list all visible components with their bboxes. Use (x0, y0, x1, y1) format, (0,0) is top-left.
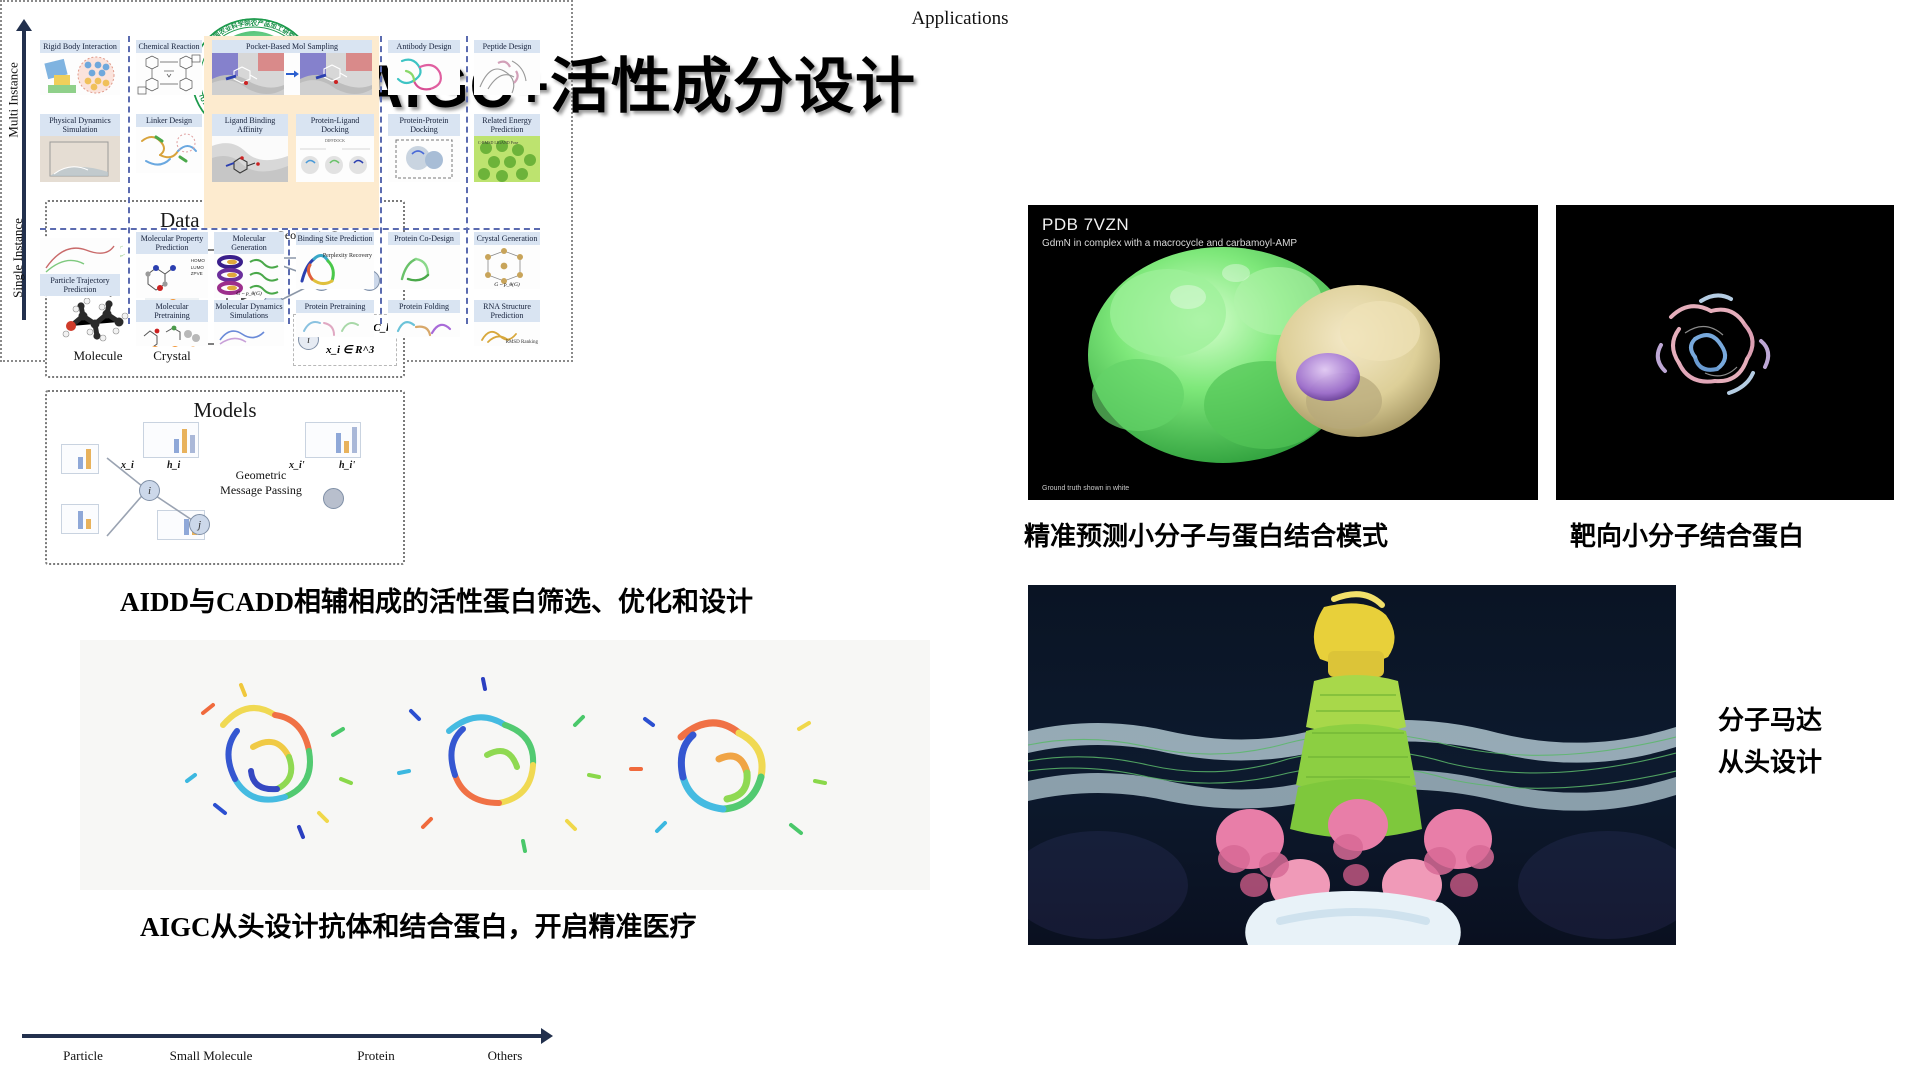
cell-art-binding-site: Perplexity Recovery (296, 245, 374, 289)
cell-label: Molecular Generation (214, 232, 284, 254)
cell-particle-trajectory-prediction: Particle Trajectory Prediction (40, 238, 120, 302)
divider-others (466, 36, 468, 324)
arrow-right-icon (284, 53, 300, 95)
cell-protein-co-design: Protein Co-Design (388, 232, 460, 296)
cell-label: Crystal Generation (474, 232, 540, 245)
mp-node-output (323, 488, 344, 509)
cell-art-protein-co-design (388, 245, 460, 289)
cell-protein-protein-docking: Protein-Protein Docking (388, 114, 460, 180)
cell-art-protein-pretraining (296, 313, 374, 337)
x-axis-label-particle: Particle (40, 1048, 126, 1064)
cell-label: Pocket-Based Mol Sampling (212, 40, 372, 53)
cell-art-crystal-generation: G ~ p_θ(G) (474, 245, 540, 289)
rmsd-ranking-annotation: RMSD Ranking (506, 340, 538, 345)
mp-var-h-prime: h_i' (339, 460, 355, 471)
annotation-lumo: LUMO (191, 265, 205, 271)
cell-label: Protein Pretraining (296, 300, 374, 313)
cell-label: Molecular Pretraining (136, 300, 208, 322)
model-input-chart-1 (61, 444, 99, 474)
cell-pocket-based-mol-sampling: Pocket-Based Mol Sampling (212, 40, 372, 102)
cell-protein-pretraining: Protein Pretraining (296, 300, 374, 344)
cell-art-rna-structure: RMSD Ranking (474, 322, 540, 346)
cell-art-physical-dynamics (40, 136, 120, 182)
cell-art-molecular-pretraining (136, 322, 208, 346)
cell-physical-dynamics-simulation: Physical Dynamics Simulation (40, 114, 120, 180)
divider-multi-single (40, 228, 540, 230)
perplexity-recovery-annotation: Perplexity Recovery (323, 253, 372, 260)
models-box: Models (45, 390, 405, 565)
cell-antibody-design: Antibody Design (388, 40, 460, 102)
cell-art-pocket-sampling (212, 53, 372, 95)
cell-ligand-binding-affinity: Ligand Binding Affinity (212, 114, 288, 180)
cell-rna-structure-prediction: RNA Structure Prediction RMSD Ranking (474, 300, 540, 344)
slide-root: IFST 中国农业科学院农产品加工研究所 INSTITUTE OF FOOD S… (0, 0, 1920, 1080)
cell-label: Protein Co-Design (388, 232, 460, 245)
cell-art-rigid-body (40, 53, 120, 95)
figure-molecular-motor (1028, 585, 1676, 945)
annotation-homo: HOMO (191, 258, 205, 264)
cell-label: Binding Site Prediction (296, 232, 374, 245)
cell-art-molecular-generation: G ~ p_θ(G) (214, 254, 284, 298)
pdb-structure-render: PDB 7VZN GdmN in complex with a macrocyc… (1028, 205, 1538, 500)
cell-art-molecular-dynamics (214, 322, 284, 346)
molecule-thumbnail (59, 298, 135, 348)
cell-rigid-body-interaction: Rigid Body Interaction (40, 40, 120, 102)
caption-aidd-cadd: AIDD与CADD相辅相成的活性蛋白筛选、优化和设计 (120, 580, 753, 619)
cell-art-antibody (388, 53, 460, 95)
cell-art-related-energy: C-RMSD LIGAND Pose (474, 136, 540, 182)
cell-label: Ligand Binding Affinity (212, 114, 288, 136)
caption-target-binding: 靶向小分子结合蛋白 (1570, 516, 1804, 553)
cell-art-peptide (474, 53, 540, 95)
pdb-footnote: Ground truth shown in white (1042, 485, 1129, 492)
cell-chemical-reaction: Chemical Reaction (136, 40, 202, 102)
cell-label: Particle Trajectory Prediction (40, 274, 120, 296)
cell-label: Protein-Protein Docking (388, 114, 460, 136)
cell-label: Linker Design (136, 114, 202, 127)
cell-art-linker-design (136, 127, 202, 173)
mp-var-x: x_i (121, 460, 134, 471)
caption-molecular-motor-line1: 分子马达 (1718, 700, 1822, 737)
divider-particle-smallmol (128, 36, 130, 324)
y-axis-label-single-instance: Single Instance (10, 218, 26, 298)
cell-art-protein-ligand-docking: DIFFDOCK (296, 136, 374, 182)
label-molecule: Molecule (59, 348, 137, 364)
cell-art-particle-trajectory (40, 238, 120, 274)
y-axis-label-multi-instance: Multi Instance (6, 62, 22, 137)
cell-label: Peptide Design (474, 40, 540, 53)
geometric-message-passing-label: Geometric Message Passing (217, 468, 305, 498)
cell-related-energy-prediction: Related Energy Prediction C-RMSD LIGAND … (474, 114, 540, 180)
target-small-molecule-render (1556, 205, 1894, 500)
cell-label: Antibody Design (388, 40, 460, 53)
mp-node-i: i (139, 480, 160, 501)
x-axis-label-protein: Protein (296, 1048, 456, 1064)
cell-protein-ligand-docking: Protein-Ligand Docking DIFFDOCK (296, 114, 374, 180)
cell-label: Protein-Ligand Docking (296, 114, 374, 136)
cell-protein-folding: Protein Folding (388, 300, 460, 344)
mp-node-j: j (189, 514, 210, 535)
annotation-zpve: ZPVE (191, 271, 205, 277)
cell-art-protein-folding (388, 313, 460, 337)
cell-label: Molecular Property Prediction (136, 232, 208, 254)
cell-label: RNA Structure Prediction (474, 300, 540, 322)
applications-title: Applications (0, 8, 1920, 30)
crystal-generation-formula: G ~ p_θ(G) (474, 282, 540, 288)
caption-molecular-motor-line2: 从头设计 (1718, 742, 1822, 779)
figure-antibody-binder-designs (80, 640, 930, 890)
cell-molecular-generation: Molecular Generation (214, 232, 284, 296)
pdb-info-text: PDB 7VZN GdmN in complex with a macrocyc… (1042, 215, 1297, 251)
applications-x-axis (22, 1034, 542, 1038)
cell-label: Protein Folding (388, 300, 460, 313)
x-axis-label-others: Others (468, 1048, 542, 1064)
cell-molecular-pretraining: Molecular Pretraining (136, 300, 208, 344)
cell-molecular-property-prediction: Molecular Property Prediction HOMO LUMO (136, 232, 208, 296)
docking-method-label: DIFFDOCK (296, 136, 374, 143)
cell-art-molecular-property: HOMO LUMO ZPVE (136, 254, 208, 298)
cell-label: Physical Dynamics Simulation (40, 114, 120, 136)
generation-formula: G ~ p_θ(G) (214, 291, 284, 297)
pdb-id-label: PDB 7VZN (1042, 215, 1297, 235)
cell-peptide-design: Peptide Design (474, 40, 540, 102)
model-output-chart (305, 422, 361, 458)
caption-antibody-design: AIGC从头设计抗体和结合蛋白，开启精准医疗 (140, 905, 697, 944)
cell-label: Related Energy Prediction (474, 114, 540, 136)
node-feature-x: x_i ∈ R^3 (326, 343, 374, 356)
cell-art-chemical-reaction (136, 53, 202, 95)
cell-molecular-dynamics-simulations: Molecular Dynamics Simulations (214, 300, 284, 344)
divider-smallmol-protein-lower (288, 230, 290, 324)
cell-label: Chemical Reaction (136, 40, 202, 53)
caption-binding-mode: 精准预测小分子与蛋白结合模式 (1024, 516, 1388, 553)
model-input-chart-2 (61, 504, 99, 534)
cell-linker-design: Linker Design (136, 114, 202, 180)
cell-art-ligand-binding (212, 136, 288, 182)
cell-label: Rigid Body Interaction (40, 40, 120, 53)
pdb-description: GdmN in complex with a macrocycle and ca… (1042, 238, 1297, 251)
cell-crystal-generation: Crystal Generation G ~ p_θ(G) (474, 232, 540, 296)
cell-binding-site-prediction: Binding Site Prediction Perplexity Recov… (296, 232, 374, 296)
cell-label: Molecular Dynamics Simulations (214, 300, 284, 322)
label-crystal: Crystal (141, 348, 203, 364)
divider-protein-others (380, 36, 382, 324)
x-axis-label-small-molecule: Small Molecule (136, 1048, 286, 1064)
energy-annotation: C-RMSD LIGAND Pose (478, 140, 518, 145)
mp-var-h: h_i (167, 460, 180, 471)
cell-art-protein-protein-docking (388, 136, 460, 182)
models-title: Models (47, 398, 403, 423)
property-annotations: HOMO LUMO ZPVE (191, 258, 205, 277)
